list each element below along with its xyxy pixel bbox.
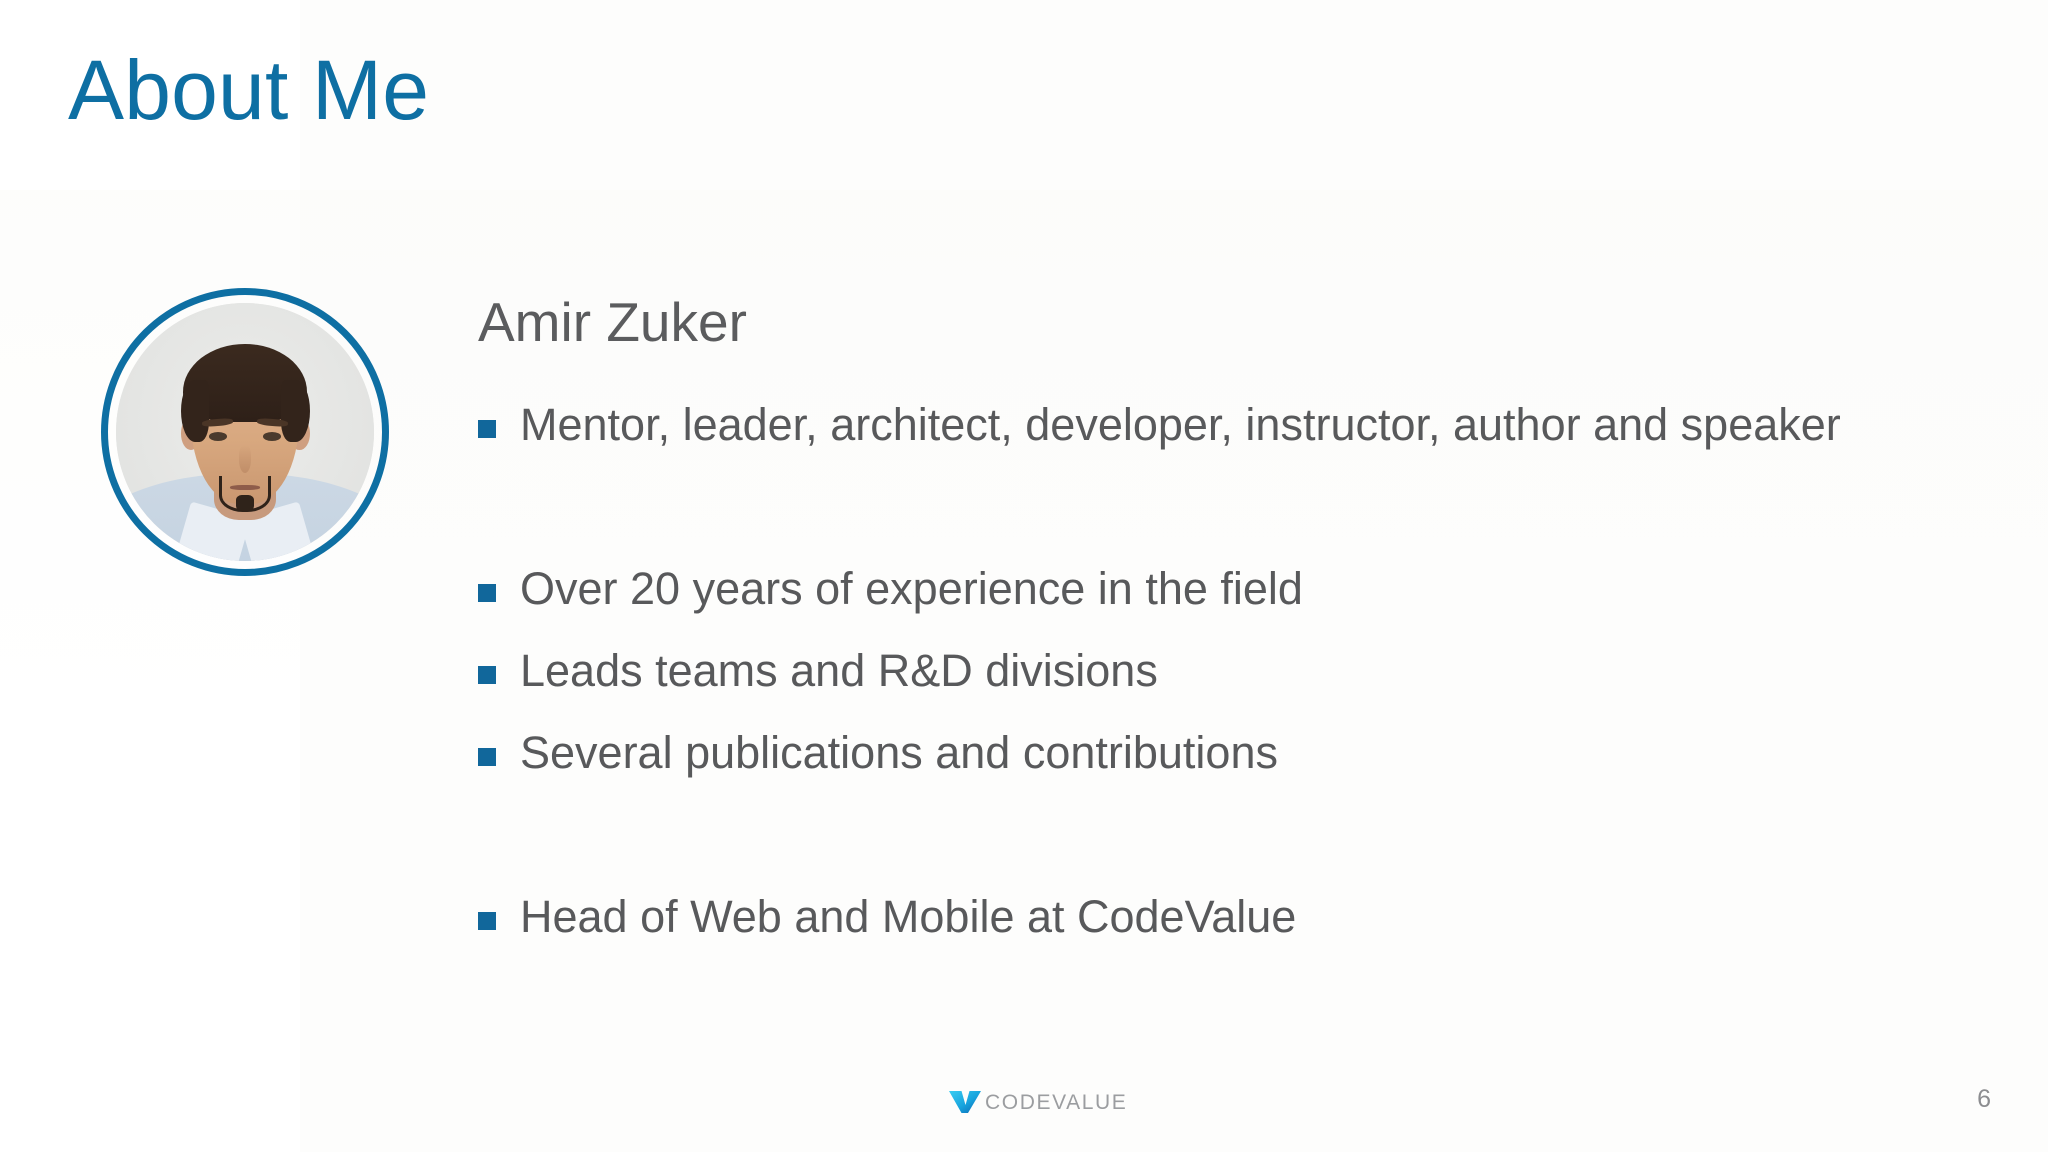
page-title: About Me	[68, 48, 429, 132]
avatar-ring	[101, 288, 389, 576]
person-name: Amir Zuker	[478, 294, 747, 352]
list-item: Several publications and contributions	[478, 726, 1978, 808]
square-bullet-icon	[478, 912, 496, 930]
list-item-label: Several publications and contributions	[520, 726, 1978, 781]
list-item-label: Over 20 years of experience in the field	[520, 562, 1978, 617]
list-item: Over 20 years of experience in the field	[478, 562, 1978, 644]
list-item: Head of Web and Mobile at CodeValue	[478, 890, 1978, 972]
list-item-label: Leads teams and R&D divisions	[520, 644, 1978, 699]
square-bullet-icon	[478, 666, 496, 684]
list-item: Mentor, leader, architect, developer, in…	[478, 398, 1978, 480]
page-number: 6	[1977, 1087, 1991, 1112]
list-item: Leads teams and R&D divisions	[478, 644, 1978, 726]
slide-canvas: About Me Amir Zuker	[0, 0, 2048, 1152]
codevalue-check-icon	[948, 1089, 982, 1115]
avatar	[101, 288, 389, 576]
list-item-label: Mentor, leader, architect, developer, in…	[520, 398, 1978, 453]
codevalue-logo: CODEVALUE	[948, 1087, 1127, 1117]
codevalue-wordmark: CODEVALUE	[985, 1092, 1127, 1113]
square-bullet-icon	[478, 420, 496, 438]
bullet-list: Mentor, leader, architect, developer, in…	[478, 398, 1978, 972]
list-item-label: Head of Web and Mobile at CodeValue	[520, 890, 1978, 945]
square-bullet-icon	[478, 584, 496, 602]
square-bullet-icon	[478, 748, 496, 766]
